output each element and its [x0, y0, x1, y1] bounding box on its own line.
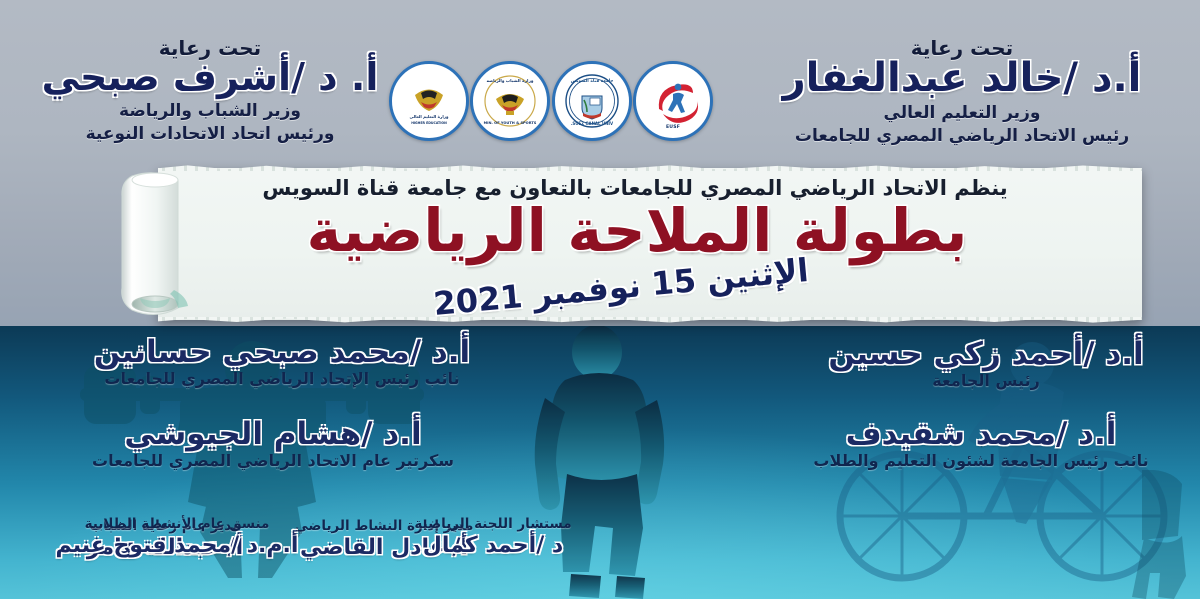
- ministry-of-youth-and-sports-logo: وزارة الشباب والرياضة MIN. OF YOUTH & SP…: [470, 61, 550, 141]
- svg-text:MIN. OF YOUTH & SPORTS: MIN. OF YOUTH & SPORTS: [484, 121, 537, 125]
- person-university-vice-name: أ.د /محمد شقيدف: [776, 418, 1186, 451]
- event-banner: ينظم الاتحاد الرياضي المصري للجامعات بال…: [118, 168, 1142, 320]
- person-sport-committee-advisor: مستشار اللجنة الرياضية د /أحمد كمال: [398, 516, 588, 557]
- person-sport-committee-advisor-name: د /أحمد كمال: [398, 534, 588, 557]
- person-federation-vice-name: أ.د /محمد صبحي حسانين: [62, 336, 502, 369]
- sponsor-left-name: أ. د /أشرف صبحي: [10, 58, 410, 98]
- person-student-activities-coordinator-name: أ.م.د /محمد فتوح غنيم: [52, 534, 302, 557]
- svg-text:وزارة الشباب والرياضة: وزارة الشباب والرياضة: [487, 78, 534, 83]
- person-federation-secretary-role: سكرتير عام الاتحاد الرياضي المصري للجامع…: [48, 452, 498, 471]
- person-university-head-role: رئيس الجامعة: [786, 372, 1186, 391]
- svg-text:جامعة قناة السويس: جامعة قناة السويس: [570, 79, 613, 84]
- person-university-head: أ.د /أحمد زكي حسين رئيس الجامعة: [786, 338, 1186, 390]
- sponsor-right-role-line1: وزير التعليم العالي: [742, 103, 1182, 124]
- person-university-vice: أ.د /محمد شقيدف نائب رئيس الجامعة لشئون …: [776, 418, 1186, 470]
- eusf-logo: EUSF: [633, 61, 713, 141]
- person-federation-secretary: أ.د /هشام الجيوشي سكرتير عام الاتحاد الر…: [48, 418, 498, 470]
- person-student-activities-coordinator: منسق عام الأنشطة الطلابية أ.م.د /محمد فت…: [52, 516, 302, 557]
- sports-event-poster: تحت رعاية أ.د /خالد عبدالغفار وزير التعل…: [0, 0, 1200, 599]
- sponsor-right-name: أ.د /خالد عبدالغفار: [742, 58, 1182, 100]
- sponsor-block-left: تحت رعاية أ. د /أشرف صبحي وزير الشباب وا…: [10, 36, 410, 145]
- person-federation-secretary-name: أ.د /هشام الجيوشي: [48, 418, 498, 451]
- person-federation-vice: أ.د /محمد صبحي حسانين نائب رئيس الإتحاد …: [62, 336, 502, 388]
- sponsor-left-role-line1: وزير الشباب والرياضة: [10, 101, 410, 122]
- person-university-head-name: أ.د /أحمد زكي حسين: [786, 338, 1186, 371]
- person-university-vice-role: نائب رئيس الجامعة لشئون التعليم والطلاب: [776, 452, 1186, 471]
- sponsor-logo-row: EUSF جامعة قناة السويس SUEZ CANAL UNIV.: [389, 52, 713, 150]
- svg-text:HIGHER EDUCATION: HIGHER EDUCATION: [411, 121, 447, 125]
- person-student-activities-coordinator-role: منسق عام الأنشطة الطلابية: [52, 517, 302, 533]
- person-sport-committee-advisor-role: مستشار اللجنة الرياضية: [398, 517, 588, 533]
- person-federation-vice-role: نائب رئيس الإتحاد الرياضي المصري للجامعا…: [62, 370, 502, 389]
- sponsor-right-role-line2: رئيس الاتحاد الرياضي المصري للجامعات: [742, 126, 1182, 147]
- sponsor-left-role-line2: ورئيس اتحاد الاتحادات النوعية: [10, 124, 410, 145]
- banner-paper: ينظم الاتحاد الرياضي المصري للجامعات بال…: [158, 168, 1142, 320]
- svg-text:SUEZ CANAL UNIV.: SUEZ CANAL UNIV.: [571, 121, 614, 126]
- sponsor-block-right: تحت رعاية أ.د /خالد عبدالغفار وزير التعل…: [742, 36, 1182, 147]
- eusf-logo-caption: EUSF: [636, 125, 710, 131]
- banner-main-title: بطولة الملاحة الرياضية: [158, 200, 1116, 262]
- suez-canal-university-logo: جامعة قناة السويس SUEZ CANAL UNIV.: [552, 61, 632, 141]
- svg-text:وزارة التعليم العالي: وزارة التعليم العالي: [410, 114, 449, 119]
- ministry-of-higher-education-logo: وزارة التعليم العالي HIGHER EDUCATION: [389, 61, 469, 141]
